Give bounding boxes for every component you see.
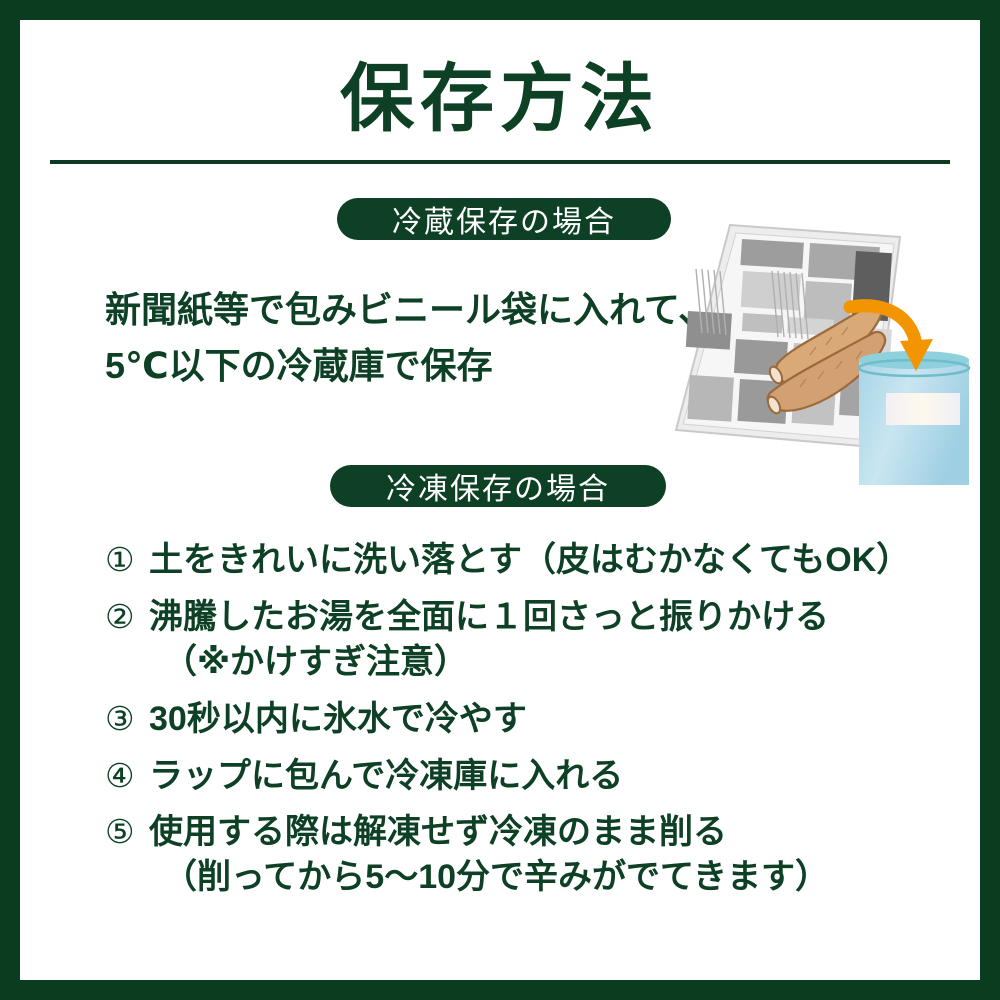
list-item: ② 沸騰したお湯を全面に１回さっと振りかける （※かけすぎ注意） [105,595,935,685]
badge-chilled-storage: 冷蔵保存の場合 [337,198,671,240]
step-text: 使用する際は解凍せず冷凍のまま削る （削ってから5〜10分で辛みがでてきます） [149,810,935,900]
page-inner: 保存方法 冷蔵保存の場合 新聞紙等で包みビニール袋に入れて、 5℃以下の冷蔵庫で… [20,20,980,980]
step-line: ラップに包んで冷凍庫に入れる [149,754,935,799]
step-number: ④ [105,754,149,798]
step-line: （※かけすぎ注意） [149,640,935,685]
plastic-bag-illustration [859,351,969,485]
step-number: ② [105,595,149,639]
step-line: 土をきれいに洗い落とす（皮はむかなくてもOK） [149,538,935,583]
page-title: 保存方法 [20,62,980,136]
infographic-page: 保存方法 冷蔵保存の場合 新聞紙等で包みビニール袋に入れて、 5℃以下の冷蔵庫で… [0,0,1000,1000]
list-item: ④ ラップに包んで冷凍庫に入れる [105,754,935,799]
badge-frozen-storage: 冷凍保存の場合 [330,465,666,507]
step-number: ① [105,538,149,582]
step-line: 使用する際は解凍せず冷凍のまま削る [149,810,935,855]
chilled-storage-text: 新聞紙等で包みビニール袋に入れて、 5℃以下の冷蔵庫で保存 [105,282,705,394]
frozen-steps-list: ① 土をきれいに洗い落とす（皮はむかなくてもOK） ② 沸騰したお湯を全面に１回… [105,538,935,912]
step-text: 土をきれいに洗い落とす（皮はむかなくてもOK） [149,538,935,583]
step-line: 沸騰したお湯を全面に１回さっと振りかける [149,595,935,640]
list-item: ⑤ 使用する際は解凍せず冷凍のまま削る （削ってから5〜10分で辛みがでてきます… [105,810,935,900]
step-number: ③ [105,697,149,741]
title-divider [50,160,950,164]
list-item: ① 土をきれいに洗い落とす（皮はむかなくてもOK） [105,538,935,583]
storage-illustration [660,215,980,495]
step-text: 沸騰したお湯を全面に１回さっと振りかける （※かけすぎ注意） [149,595,935,685]
chilled-line-2: 5℃以下の冷蔵庫で保存 [105,338,705,394]
chilled-line-1: 新聞紙等で包みビニール袋に入れて、 [105,282,705,338]
list-item: ③ 30秒以内に氷水で冷やす [105,697,935,742]
step-text: 30秒以内に氷水で冷やす [149,697,935,742]
step-number: ⑤ [105,810,149,854]
step-line: 30秒以内に氷水で冷やす [149,697,935,742]
step-text: ラップに包んで冷凍庫に入れる [149,754,935,799]
step-line: （削ってから5〜10分で辛みがでてきます） [149,855,935,900]
